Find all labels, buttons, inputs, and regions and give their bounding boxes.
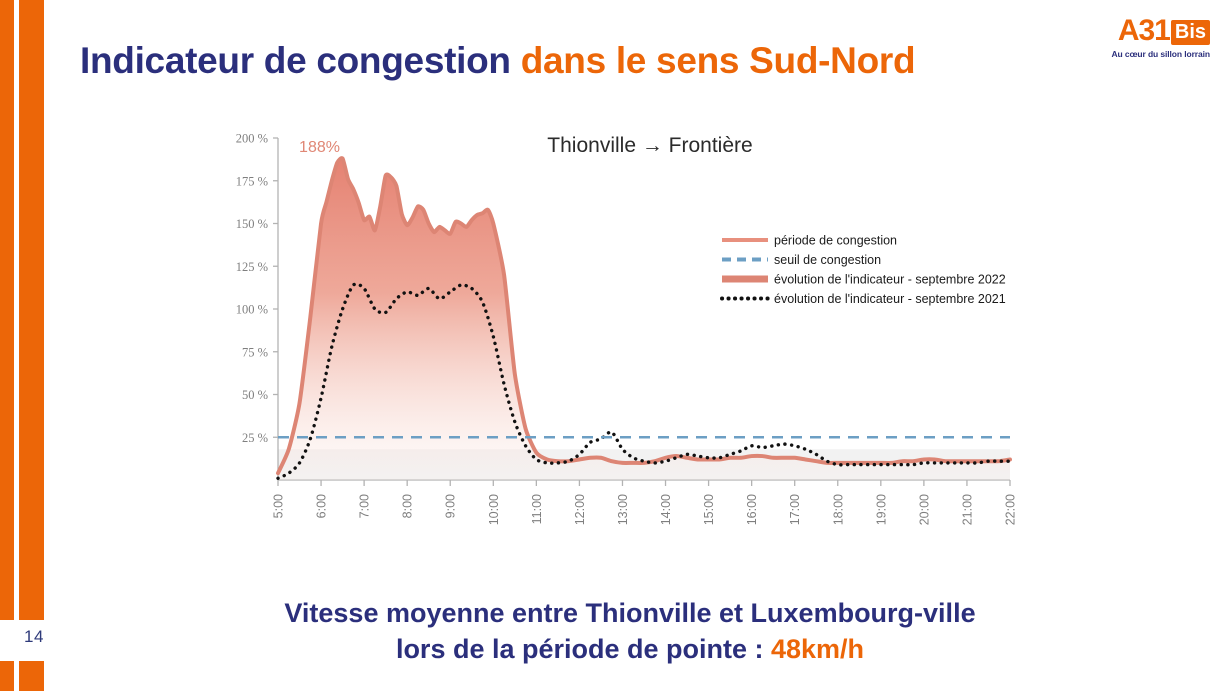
chart-title: Thionville → Frontière bbox=[547, 134, 752, 157]
x-tick-label: 8:00 bbox=[401, 494, 415, 518]
x-axis: 5:006:007:008:009:0010:0011:0012:0013:00… bbox=[272, 480, 1018, 525]
x-tick-label: 17:00 bbox=[788, 494, 802, 525]
logo-mark-a31: A31 bbox=[1118, 14, 1170, 47]
chart-svg: 25 %50 %75 %100 %125 %150 %175 %200 % 5:… bbox=[210, 128, 1040, 548]
decor-bar-left-thick bbox=[19, 0, 44, 620]
caption-speed-value: 48km/h bbox=[771, 634, 864, 664]
slide-caption: Vitesse moyenne entre Thionville et Luxe… bbox=[120, 596, 1140, 667]
y-tick-label: 75 % bbox=[242, 345, 268, 359]
peak-annotation: 188% bbox=[299, 139, 340, 156]
x-tick-label: 11:00 bbox=[530, 494, 544, 524]
x-tick-label: 14:00 bbox=[659, 494, 673, 525]
y-tick-label: 100 % bbox=[236, 303, 268, 317]
legend-label: évolution de l'indicateur - septembre 20… bbox=[774, 273, 1006, 287]
x-tick-label: 19:00 bbox=[874, 494, 888, 525]
slide-root: 14 Indicateur de congestion dans le sens… bbox=[0, 0, 1224, 691]
y-tick-label: 25 % bbox=[242, 431, 268, 445]
decor-bar-left-thin-bottom bbox=[0, 661, 14, 691]
decor-bar-left-thick-bottom bbox=[19, 661, 44, 691]
logo-tagline: Au cœur du sillon lorrain bbox=[1111, 49, 1210, 59]
logo-a31bis: A31Bis Au cœur du sillon lorrain bbox=[1111, 16, 1210, 59]
x-tick-label: 10:00 bbox=[487, 494, 501, 525]
y-axis: 25 %50 %75 %100 %125 %150 %175 %200 % bbox=[236, 132, 278, 481]
x-tick-label: 6:00 bbox=[315, 494, 329, 518]
x-tick-label: 5:00 bbox=[272, 494, 286, 518]
y-tick-label: 50 % bbox=[242, 388, 268, 402]
x-tick-label: 18:00 bbox=[831, 494, 845, 525]
page-number: 14 bbox=[14, 627, 54, 647]
legend-label: seuil de congestion bbox=[774, 253, 881, 267]
caption-line-2-prefix: lors de la période de pointe : bbox=[396, 634, 771, 664]
x-tick-label: 7:00 bbox=[358, 494, 372, 518]
page-title: Indicateur de congestion dans le sens Su… bbox=[80, 40, 915, 82]
y-tick-label: 150 % bbox=[236, 217, 268, 231]
logo-mark-bis: Bis bbox=[1171, 20, 1210, 45]
x-tick-label: 20:00 bbox=[917, 494, 931, 525]
x-tick-label: 21:00 bbox=[960, 494, 974, 525]
legend-label: période de congestion bbox=[774, 234, 897, 248]
x-tick-label: 13:00 bbox=[616, 494, 630, 525]
page-title-part-navy: Indicateur de congestion bbox=[80, 40, 521, 81]
decor-bar-left-thin bbox=[0, 0, 14, 620]
legend-label: évolution de l'indicateur - septembre 20… bbox=[774, 292, 1006, 306]
y-tick-label: 125 % bbox=[236, 260, 268, 274]
x-tick-label: 9:00 bbox=[444, 494, 458, 518]
page-title-part-orange: dans le sens Sud-Nord bbox=[521, 40, 916, 81]
x-tick-label: 15:00 bbox=[702, 494, 716, 525]
x-tick-label: 12:00 bbox=[573, 494, 587, 525]
caption-line-1: Vitesse moyenne entre Thionville et Luxe… bbox=[120, 596, 1140, 632]
logo-mark: A31Bis bbox=[1111, 16, 1210, 46]
x-tick-label: 22:00 bbox=[1004, 494, 1018, 525]
x-tick-label: 16:00 bbox=[745, 494, 759, 525]
y-tick-label: 175 % bbox=[236, 174, 268, 188]
caption-line-2: lors de la période de pointe : 48km/h bbox=[120, 632, 1140, 668]
y-tick-label: 200 % bbox=[236, 132, 268, 146]
congestion-chart: 25 %50 %75 %100 %125 %150 %175 %200 % 5:… bbox=[210, 128, 1040, 548]
